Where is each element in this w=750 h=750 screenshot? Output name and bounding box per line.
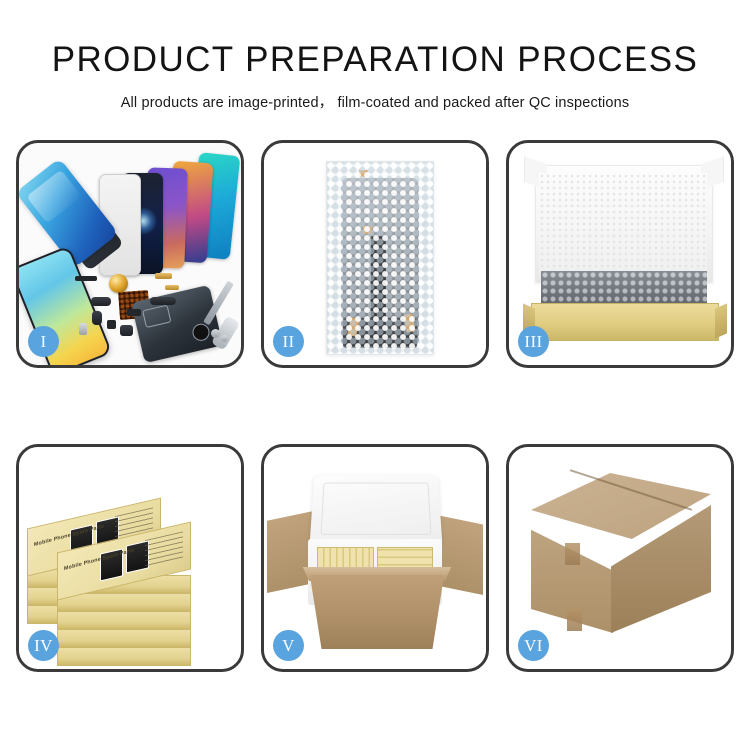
component-flex-gold-icon: [165, 285, 179, 290]
box-spec-lines-icon: [145, 531, 183, 568]
yellow-box-base-icon: [531, 303, 719, 341]
carton-body-icon: [304, 575, 450, 649]
carton-tape-lower-icon: [567, 609, 582, 631]
bubble-fill-icon: [541, 271, 707, 307]
process-step-1[interactable]: I: [16, 140, 244, 368]
page-subtitle: All products are image-printed， film-coa…: [0, 91, 750, 112]
bubble-wrap-bag-icon: [326, 161, 434, 355]
component-button-icon: [107, 320, 116, 329]
stack-box-layer: [57, 647, 191, 666]
process-step-2[interactable]: II: [261, 140, 489, 368]
component-chip-icon: [75, 276, 97, 281]
speaker-coil-icon: [109, 274, 128, 293]
component-connector-icon: [155, 273, 172, 279]
process-step-4[interactable]: Mobile Phone Spare Parts Mobile Phone Sp…: [16, 444, 244, 672]
box-stack-front: Mobile Phone Spare Parts: [57, 509, 207, 669]
step-badge-4: IV: [28, 630, 59, 661]
foam-box-lid-icon: [310, 475, 443, 545]
component-sim-tray-icon: [79, 323, 87, 335]
step-badge-6: VI: [518, 630, 549, 661]
process-step-6[interactable]: VI: [506, 444, 734, 672]
carton-tape-upper-icon: [565, 543, 580, 565]
step-badge-3: III: [518, 326, 549, 357]
stack-box-layer: [57, 611, 191, 630]
component-camera-icon: [120, 325, 133, 336]
component-screw-icon: [211, 329, 220, 338]
process-step-5[interactable]: V: [261, 444, 489, 672]
component-ribbon-icon: [150, 297, 176, 305]
process-step-grid: I II III: [16, 140, 734, 672]
stack-box-layer: [57, 629, 191, 648]
component-bracket-icon: [92, 311, 102, 325]
process-step-3[interactable]: III: [506, 140, 734, 368]
phone-fan-group: [91, 151, 241, 276]
step-badge-2: II: [273, 326, 304, 357]
component-screw-small-icon: [221, 335, 228, 342]
step-badge-1: I: [28, 326, 59, 357]
foam-sheet-icon: [539, 173, 707, 273]
step-badge-5: V: [273, 630, 304, 661]
stack-box-layer: [57, 593, 191, 612]
page-title: PRODUCT PREPARATION PROCESS: [0, 40, 750, 80]
component-ic-icon: [127, 309, 141, 316]
bubble-texture-overlay: [327, 162, 433, 354]
component-flex-cable-icon: [91, 297, 111, 306]
page-header: PRODUCT PREPARATION PROCESS All products…: [0, 0, 750, 112]
